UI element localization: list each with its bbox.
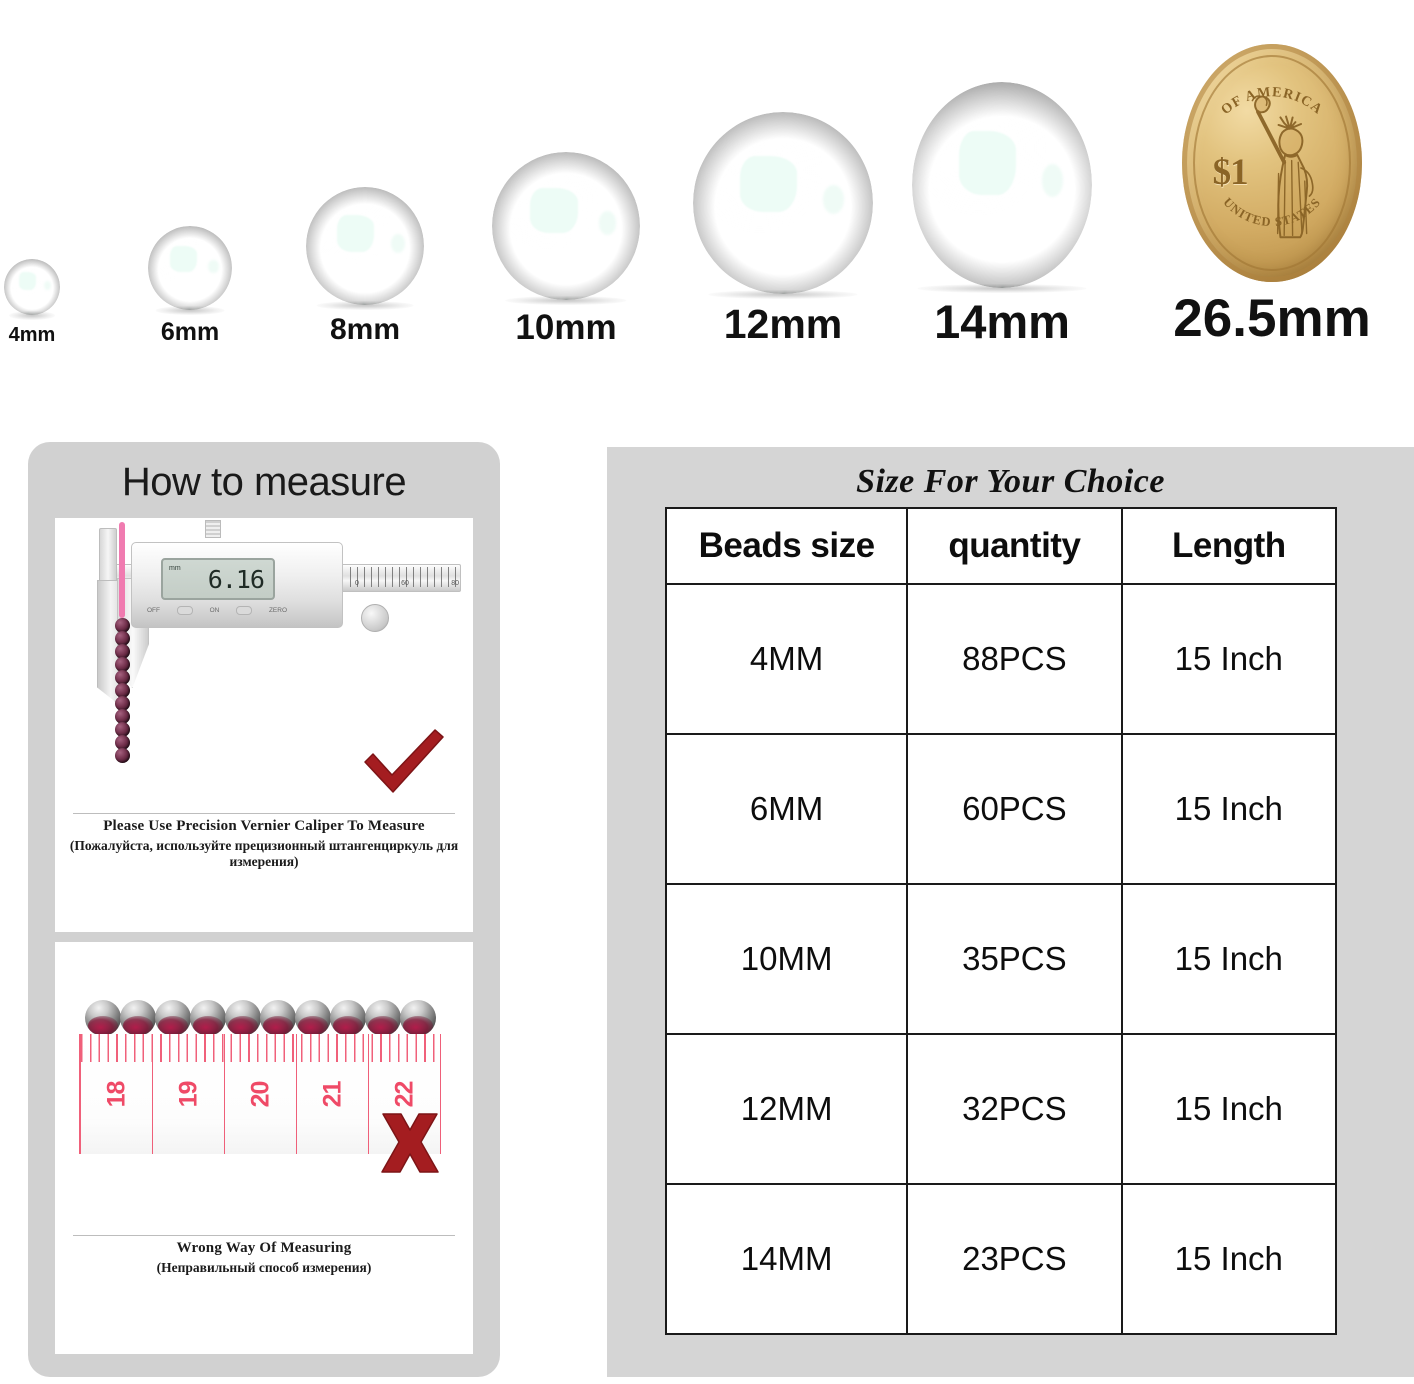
how-to-measure-panel: How to measure 0 60 80 mm 6.16 OFF <box>28 442 500 1377</box>
malachite-bead-6mm <box>148 226 232 310</box>
cell-quantity: 32PCS <box>907 1034 1121 1184</box>
caliper-upper-jaw <box>99 528 117 582</box>
bead-secondary-highlight <box>823 185 845 214</box>
strand-bead <box>225 1000 261 1036</box>
malachite-bead-14mm <box>912 82 1092 288</box>
table-row: 14MM23PCS15 Inch <box>666 1184 1336 1334</box>
caliper-power-button <box>177 606 193 615</box>
size-label-12mm: 12mm <box>724 304 843 345</box>
caliper-scale-numbers: 0 60 80 <box>355 580 459 587</box>
bead-graphic-wrap <box>912 82 1092 288</box>
strand-bead <box>155 1000 191 1036</box>
caliper-figure: 0 60 80 mm 6.16 OFF ON ZERO <box>55 518 473 818</box>
coin-legend-text: OF AMERICAUNITED STATES <box>1182 44 1362 282</box>
dollar-coin: OF AMERICAUNITED STATES$1 <box>1182 44 1362 282</box>
check-mark-icon <box>361 726 447 796</box>
caliper-depth-rod <box>119 522 125 618</box>
size-label-10mm: 10mm <box>515 310 616 345</box>
size-item-14mm: 14mm <box>912 82 1092 345</box>
cell-beads-size: 10MM <box>666 884 907 1034</box>
strand-bead <box>120 1000 156 1036</box>
malachite-bead-12mm <box>693 112 873 294</box>
cell-length: 15 Inch <box>1122 584 1336 734</box>
cross-mark-icon <box>377 1110 443 1176</box>
bead-highlight <box>19 272 37 289</box>
strand-bead <box>330 1000 366 1036</box>
bead-secondary-highlight <box>391 234 405 253</box>
column-header-length: Length <box>1122 508 1336 584</box>
cell-length: 15 Inch <box>1122 734 1336 884</box>
caliper-off-label: OFF <box>147 607 160 614</box>
size-comparison-strip: 4mm6mm8mm10mm12mm14mmOF AMERICAUNITED ST… <box>0 0 1414 345</box>
steel-bead-strand <box>85 1000 435 1036</box>
bead-graphic-wrap <box>476 152 656 300</box>
caliper-zero-label: ZERO <box>269 607 287 614</box>
size-label-6mm: 6mm <box>161 320 219 345</box>
tape-number: 19 <box>174 1081 203 1107</box>
wrong-caption-en: Wrong Way Of Measuring <box>55 1240 473 1257</box>
tape-number: 21 <box>318 1081 347 1107</box>
column-header-beads-size: Beads size <box>666 508 907 584</box>
caliper-scale-number-80: 80 <box>451 580 459 587</box>
size-label-4mm: 4mm <box>9 325 56 345</box>
coin-denomination: $1 <box>1213 151 1248 194</box>
caliper-on-label: ON <box>210 607 220 614</box>
caliper-reading-value: 6.16 <box>208 567 264 592</box>
caliper-zero-button <box>236 606 252 615</box>
bead-secondary-highlight <box>44 281 51 290</box>
tape-measure-figure: 18 19 20 21 22 <box>55 942 473 1240</box>
bead-secondary-highlight <box>599 211 617 235</box>
wrong-measuring-card: 18 19 20 21 22 <box>55 942 473 1354</box>
malachite-bead-8mm <box>306 187 424 305</box>
svg-text:UNITED STATES: UNITED STATES <box>1220 195 1323 229</box>
tape-number: 22 <box>390 1081 419 1107</box>
caliper-button-row: OFF ON ZERO <box>147 606 287 615</box>
tape-cell: 19 <box>153 1034 225 1154</box>
malachite-bead-10mm <box>492 152 640 300</box>
size-item-8mm: 8mm <box>275 187 455 345</box>
tape-cell: 18 <box>81 1034 153 1154</box>
size-table: Beads size quantity Length 4MM88PCS15 In… <box>665 507 1337 1335</box>
correct-caption-en: Please Use Precision Vernier Caliper To … <box>55 818 473 835</box>
strand-bead <box>190 1000 226 1036</box>
coin-graphic-wrap: OF AMERICAUNITED STATES$1 <box>1182 44 1362 282</box>
figure-baseline <box>73 813 455 814</box>
size-label-14mm: 14mm <box>934 298 1070 345</box>
measured-bead-strand <box>115 618 130 804</box>
size-table-body: 4MM88PCS15 Inch6MM60PCS15 Inch10MM35PCS1… <box>666 584 1336 1334</box>
bead-graphic-wrap <box>693 112 873 294</box>
caliper-lcd-display: mm 6.16 <box>161 558 275 600</box>
bead-highlight <box>337 215 375 252</box>
bead-highlight <box>959 131 1017 195</box>
size-label-26-5mm: 26.5mm <box>1173 292 1370 345</box>
tape-cell: 21 <box>297 1034 369 1154</box>
correct-measuring-card: 0 60 80 mm 6.16 OFF ON ZERO <box>55 518 473 932</box>
strand-bead <box>85 1000 121 1036</box>
cell-quantity: 88PCS <box>907 584 1121 734</box>
strand-bead <box>400 1000 436 1036</box>
size-item-10mm: 10mm <box>476 152 656 345</box>
table-row: 12MM32PCS15 Inch <box>666 1034 1336 1184</box>
size-item-12mm: 12mm <box>693 112 873 345</box>
cell-quantity: 35PCS <box>907 884 1121 1034</box>
cell-beads-size: 12MM <box>666 1034 907 1184</box>
bead-secondary-highlight <box>1042 164 1064 197</box>
size-label-8mm: 8mm <box>330 315 400 345</box>
strand-bead <box>115 748 130 763</box>
cell-beads-size: 6MM <box>666 734 907 884</box>
caliper-thumb-lock <box>205 520 221 538</box>
how-to-measure-title: How to measure <box>28 460 500 505</box>
cell-length: 15 Inch <box>1122 884 1336 1034</box>
table-row: 10MM35PCS15 Inch <box>666 884 1336 1034</box>
tape-number: 18 <box>102 1081 131 1107</box>
strand-bead <box>295 1000 331 1036</box>
wrong-method-caption: Wrong Way Of Measuring (Неправильный спо… <box>55 1240 473 1276</box>
bead-highlight <box>530 188 577 234</box>
cell-quantity: 23PCS <box>907 1184 1121 1334</box>
size-table-title: Size For Your Choice <box>607 447 1414 501</box>
svg-text:OF AMERICA: OF AMERICA <box>1219 85 1326 118</box>
bead-graphic-wrap <box>275 187 455 305</box>
cell-quantity: 60PCS <box>907 734 1121 884</box>
table-header-row: Beads size quantity Length <box>666 508 1336 584</box>
correct-caption-ru: (Пожалуйста, используйте прецизионный шт… <box>55 838 473 870</box>
cell-beads-size: 4MM <box>666 584 907 734</box>
tape-cell: 20 <box>225 1034 297 1154</box>
caliper-scale-number-0: 0 <box>355 580 359 587</box>
tape-number: 20 <box>246 1081 275 1107</box>
bead-secondary-highlight <box>208 260 218 273</box>
size-item-6mm: 6mm <box>100 226 280 345</box>
cell-beads-size: 14MM <box>666 1184 907 1334</box>
strand-bead <box>260 1000 296 1036</box>
cell-length: 15 Inch <box>1122 1034 1336 1184</box>
strand-bead <box>365 1000 401 1036</box>
correct-method-caption: Please Use Precision Vernier Caliper To … <box>55 818 473 870</box>
caliper-scale-number-60: 60 <box>401 580 409 587</box>
size-table-panel: Size For Your Choice Beads size quantity… <box>607 447 1414 1377</box>
malachite-bead-4mm <box>4 259 60 315</box>
bead-highlight <box>170 246 197 272</box>
table-row: 4MM88PCS15 Inch <box>666 584 1336 734</box>
size-item-26-5mm: OF AMERICAUNITED STATES$126.5mm <box>1182 44 1362 345</box>
caliper-unit-label: mm <box>169 565 181 572</box>
caliper-thumb-wheel <box>361 604 389 632</box>
cell-length: 15 Inch <box>1122 1184 1336 1334</box>
bead-highlight <box>740 156 798 212</box>
wrong-caption-ru: (Неправильный способ измерения) <box>55 1260 473 1276</box>
figure-baseline <box>73 1235 455 1236</box>
table-row: 6MM60PCS15 Inch <box>666 734 1336 884</box>
column-header-quantity: quantity <box>907 508 1121 584</box>
bead-graphic-wrap <box>100 226 280 310</box>
